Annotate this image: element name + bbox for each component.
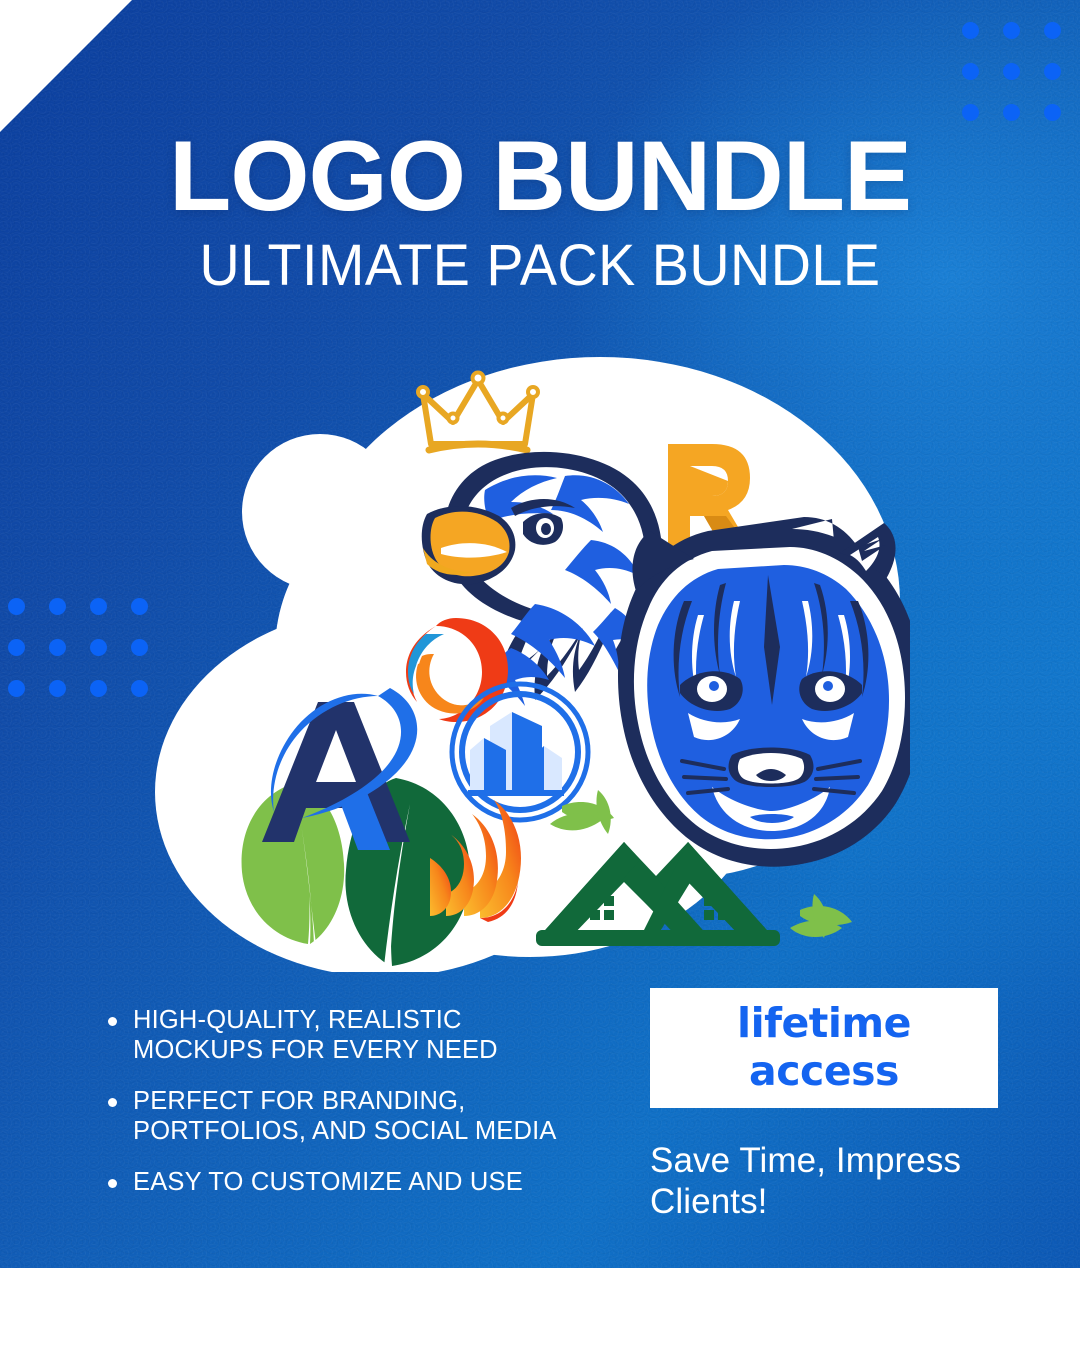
headline-block: LOGO BUNDLE ULTIMATE PACK BUNDLE — [0, 128, 1080, 295]
feature-text: EASY TO CUSTOMIZE AND USE — [133, 1168, 523, 1198]
lifetime-access-badge: lifetime access — [650, 988, 998, 1108]
dot — [49, 680, 66, 697]
dot — [49, 639, 66, 656]
logo-bundle-poster: LOGO BUNDLE ULTIMATE PACK BUNDLE — [0, 0, 1080, 1350]
dot-grid-top-right — [962, 22, 1080, 121]
bullet-icon — [108, 1017, 117, 1026]
dot — [1044, 104, 1061, 121]
dot — [1003, 63, 1020, 80]
list-item: EASY TO CUSTOMIZE AND USE — [100, 1168, 570, 1198]
dot — [962, 104, 979, 121]
dot — [962, 63, 979, 80]
feature-text: HIGH-QUALITY, REALISTIC MOCKUPS FOR EVER… — [133, 1006, 570, 1065]
dot — [1003, 22, 1020, 39]
feature-list: HIGH-QUALITY, REALISTIC MOCKUPS FOR EVER… — [100, 1006, 570, 1220]
dot — [90, 639, 107, 656]
dot — [8, 680, 25, 697]
page-title: LOGO BUNDLE — [0, 128, 1080, 223]
callout-block: lifetime access Save Time, Impress Clien… — [650, 988, 998, 1223]
leaf-decorations-right — [790, 894, 852, 938]
dot — [1044, 22, 1061, 39]
dot — [1044, 63, 1061, 80]
list-item: HIGH-QUALITY, REALISTIC MOCKUPS FOR EVER… — [100, 1006, 570, 1065]
dot — [1003, 104, 1020, 121]
callout-tagline: Save Time, Impress Clients! — [650, 1140, 998, 1223]
bullet-icon — [108, 1179, 117, 1188]
dot — [8, 639, 25, 656]
dot — [8, 598, 25, 615]
bullet-icon — [108, 1098, 117, 1107]
dot-grid-left — [8, 598, 148, 697]
page-subtitle: ULTIMATE PACK BUNDLE — [22, 237, 1059, 295]
dot — [90, 680, 107, 697]
dot — [962, 22, 979, 39]
feature-text: PERFECT FOR BRANDING, PORTFOLIOS, AND SO… — [133, 1087, 570, 1146]
list-item: PERFECT FOR BRANDING, PORTFOLIOS, AND SO… — [100, 1087, 570, 1146]
dot — [49, 598, 66, 615]
dot — [90, 598, 107, 615]
badge-label: lifetime access — [737, 999, 911, 1095]
logo-showcase — [130, 352, 910, 972]
